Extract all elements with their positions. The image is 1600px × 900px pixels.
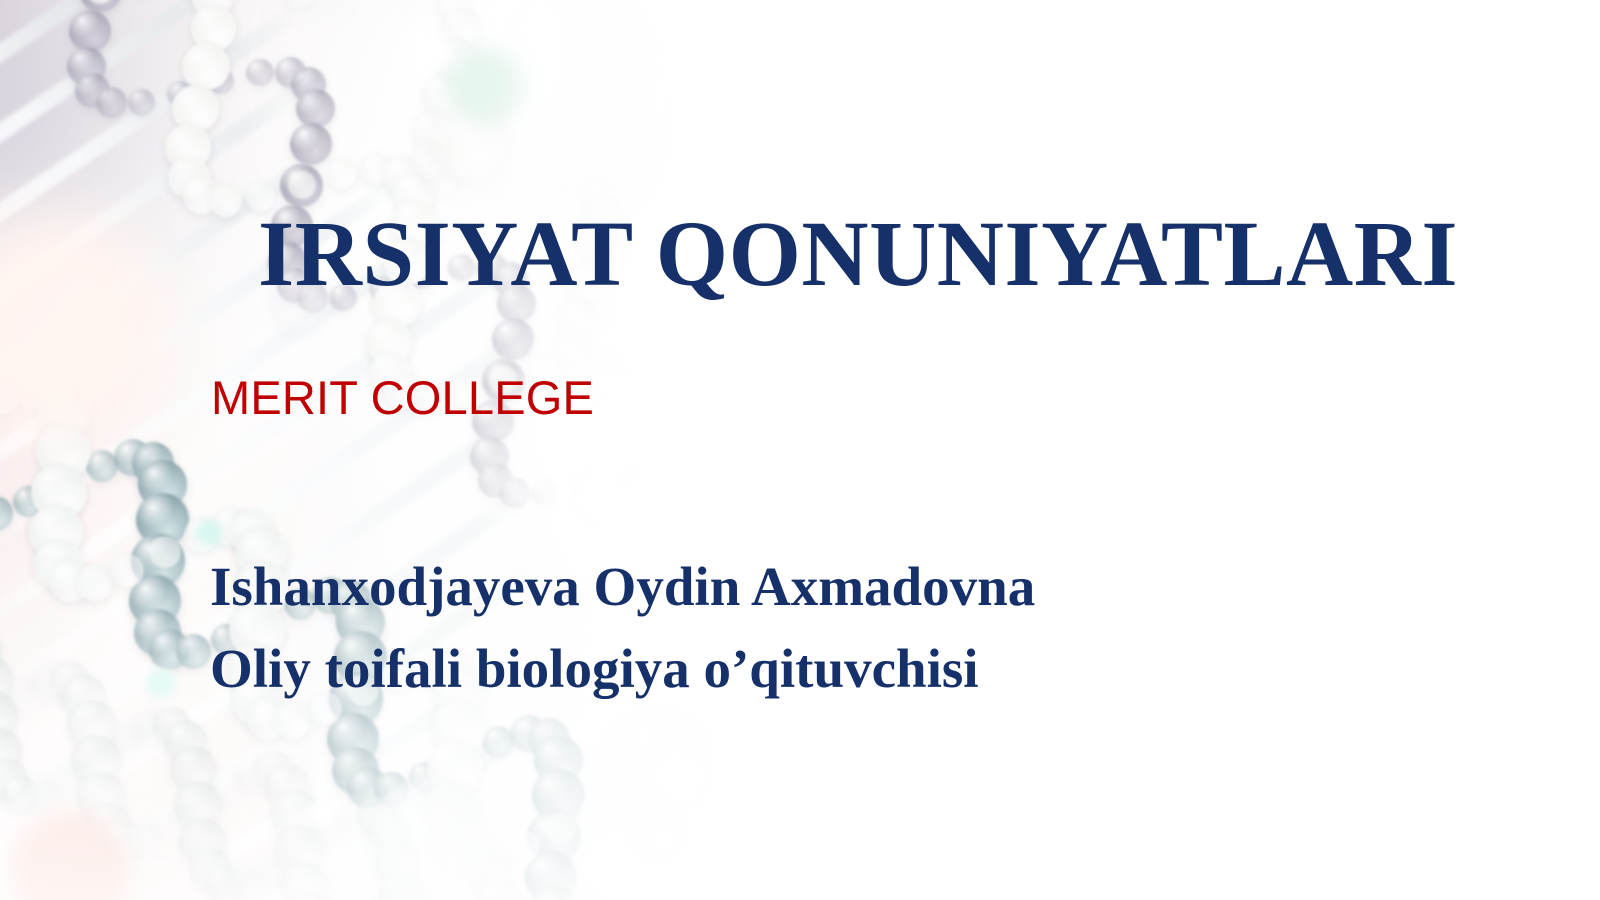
presentation-title-slide: IRSIYAT QONUNIYATLARI MERIT COLLEGE Isha… — [0, 0, 1600, 900]
slide-content: IRSIYAT QONUNIYATLARI MERIT COLLEGE Isha… — [0, 0, 1600, 900]
slide-subtitle-organization: MERIT COLLEGE — [211, 372, 594, 424]
author-role: Oliy toifali biologiya o’qituvchisi — [210, 628, 1035, 710]
author-name: Ishanxodjayeva Oydin Axmadovna — [210, 546, 1035, 628]
author-block: Ishanxodjayeva Oydin Axmadovna Oliy toif… — [210, 546, 1035, 710]
slide-title: IRSIYAT QONUNIYATLARI — [258, 207, 1458, 304]
